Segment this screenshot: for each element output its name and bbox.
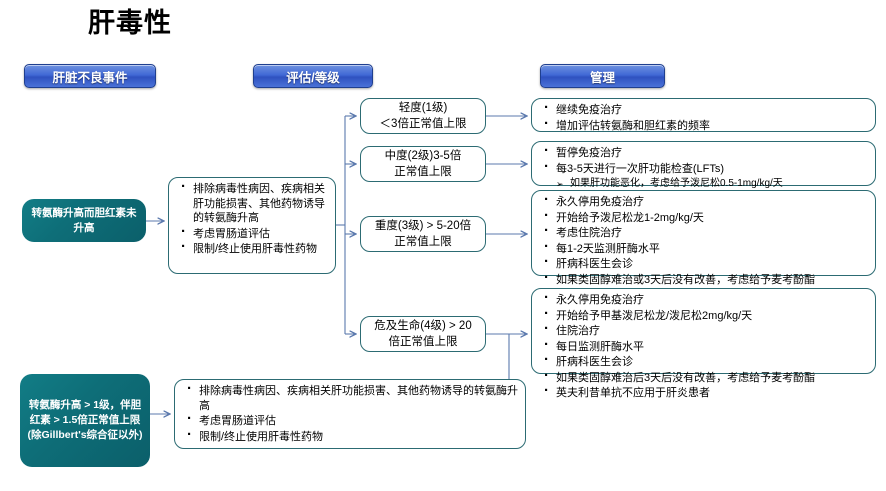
workup-box-lower[interactable]: 排除病毒性病因、疾病相关肝功能损害、其他药物诱导的转氨酶升高 考虑胃肠道评估 限…	[174, 379, 526, 449]
grade-line-2: ＜3倍正常值上限	[380, 116, 467, 132]
list-item: 如果类固醇难治或3天后没有改善，考虑给予麦考酚酯	[540, 273, 869, 288]
header-liver-adverse-events[interactable]: 肝脏不良事件	[24, 64, 156, 88]
list-item: 永久停用免疫治疗	[540, 293, 869, 308]
management-list: 永久停用免疫治疗 开始给予甲基泼尼松龙/泼尼松2mg/kg/天 住院治疗 每日监…	[532, 289, 875, 406]
list-item: 排除病毒性病因、疾病相关肝功能损害、其他药物诱导的转氨酶升高	[177, 182, 329, 226]
trigger-box-transaminase-only[interactable]: 转氨酶升高而胆红素未升高	[22, 199, 146, 242]
list-item: 继续免疫治疗	[540, 103, 869, 118]
grade-box-4[interactable]: 危及生命(4级) > 20 倍正常值上限	[360, 316, 486, 352]
list-item: 考虑胃肠道评估	[177, 227, 329, 242]
workup-list: 排除病毒性病因、疾病相关肝功能损害、其他药物诱导的转氨酶升高 考虑胃肠道评估 限…	[175, 380, 525, 449]
workup-list: 排除病毒性病因、疾病相关肝功能损害、其他药物诱导的转氨酶升高 考虑胃肠道评估 限…	[169, 178, 335, 262]
list-item: 增加评估转氨酶和胆红素的频率	[540, 119, 869, 134]
list-item: 英夫利昔单抗不应用于肝炎患者	[540, 386, 869, 401]
workup-box-upper[interactable]: 排除病毒性病因、疾病相关肝功能损害、其他药物诱导的转氨酶升高 考虑胃肠道评估 限…	[168, 177, 336, 274]
list-item: 开始给予甲基泼尼松龙/泼尼松2mg/kg/天	[540, 309, 869, 324]
trigger-box-transaminase-with-bilirubin[interactable]: 转氨酶升高 > 1级，伴胆红素 > 1.5倍正常值上限 (除Gillbert's…	[20, 374, 150, 467]
management-box-grade-2[interactable]: 暂停免疫治疗 每3-5天进行一次肝功能检查(LFTs) 如果肝功能恶化，考虑给予…	[531, 141, 876, 186]
grade-box-3[interactable]: 重度(3级) > 5-20倍 正常值上限	[360, 216, 486, 252]
management-list: 暂停免疫治疗 每3-5天进行一次肝功能检查(LFTs) 如果肝功能恶化，考虑给予…	[532, 142, 875, 196]
list-item: 排除病毒性病因、疾病相关肝功能损害、其他药物诱导的转氨酶升高	[183, 384, 519, 413]
list-item: 暂停免疫治疗	[540, 146, 869, 161]
grade-line-1: 轻度(1级)	[380, 100, 467, 116]
header-management[interactable]: 管理	[540, 64, 665, 88]
list-item: 考虑胃肠道评估	[183, 414, 519, 429]
page-title: 肝毒性	[88, 6, 172, 40]
list-item: 开始给予泼尼松龙1-2mg/kg/天	[540, 211, 869, 226]
management-box-grade-3[interactable]: 永久停用免疫治疗 开始给予泼尼松龙1-2mg/kg/天 考虑住院治疗 每1-2天…	[531, 190, 876, 276]
list-item: 肝病科医生会诊	[540, 257, 869, 272]
header-label: 评估/等级	[286, 67, 339, 86]
list-item: 每日监测肝酶水平	[540, 340, 869, 355]
list-item: 永久停用免疫治疗	[540, 195, 869, 210]
trigger-label: 转氨酶升高 > 1级，伴胆红素 > 1.5倍正常值上限 (除Gillbert's…	[26, 398, 144, 443]
header-assessment-grade[interactable]: 评估/等级	[253, 64, 373, 88]
list-item: 每1-2天监测肝酶水平	[540, 242, 869, 257]
grade-line-1: 重度(3级) > 5-20倍	[375, 218, 471, 234]
grade-line-2: 倍正常值上限	[374, 334, 471, 350]
list-item: 限制/终止使用肝毒性药物	[183, 430, 519, 445]
grade-line-2: 正常值上限	[385, 164, 462, 180]
trigger-label: 转氨酶升高而胆红素未升高	[28, 206, 140, 236]
management-box-grade-1[interactable]: 继续免疫治疗 增加评估转氨酶和胆红素的频率	[531, 98, 876, 132]
list-item-sub: 如果肝功能恶化，考虑给予泼尼松0.5-1mg/kg/天	[540, 177, 869, 191]
list-item: 每3-5天进行一次肝功能检查(LFTs)	[540, 162, 869, 177]
list-item: 如果类固醇难治后3天后没有改善，考虑给予麦考酚酯	[540, 371, 869, 386]
grade-line-2: 正常值上限	[375, 234, 471, 250]
management-box-grade-4[interactable]: 永久停用免疫治疗 开始给予甲基泼尼松龙/泼尼松2mg/kg/天 住院治疗 每日监…	[531, 288, 876, 374]
grade-line-1: 中度(2级)3-5倍	[385, 148, 462, 164]
management-list: 继续免疫治疗 增加评估转氨酶和胆红素的频率	[532, 99, 875, 138]
grade-box-2[interactable]: 中度(2级)3-5倍 正常值上限	[360, 146, 486, 182]
grade-box-1[interactable]: 轻度(1级) ＜3倍正常值上限	[360, 98, 486, 134]
list-item: 考虑住院治疗	[540, 226, 869, 241]
list-item: 限制/终止使用肝毒性药物	[177, 242, 329, 257]
header-label: 肝脏不良事件	[52, 67, 127, 86]
flowchart-canvas: 肝毒性 肝脏不良事件 评估/等级 管理 转氨酶升高而胆红素未升高 转氨酶升高 >…	[0, 0, 886, 491]
list-item: 住院治疗	[540, 324, 869, 339]
list-item: 肝病科医生会诊	[540, 355, 869, 370]
header-label: 管理	[590, 67, 615, 86]
grade-line-1: 危及生命(4级) > 20	[374, 318, 471, 334]
